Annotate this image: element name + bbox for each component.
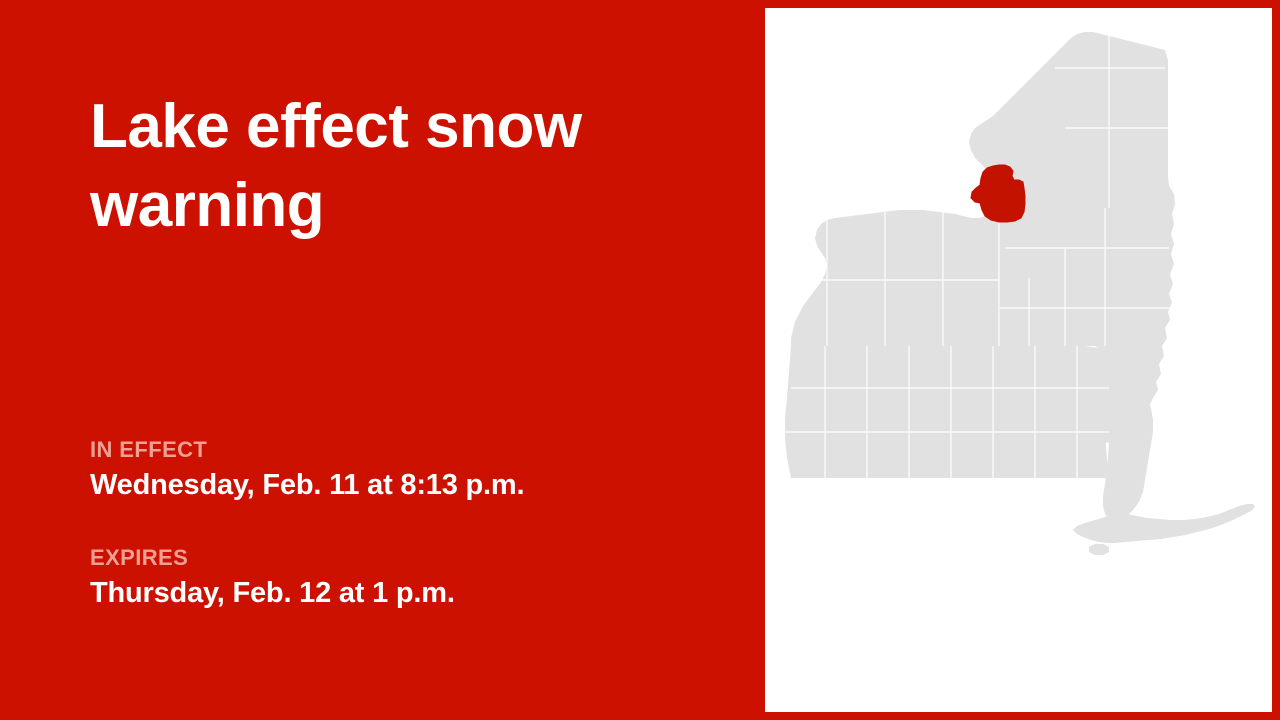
expires-value: Thursday, Feb. 12 at 1 p.m. [90,576,710,611]
in-effect-value: Wednesday, Feb. 11 at 8:13 p.m. [90,468,710,503]
new-york-state-map [765,8,1272,712]
long-island [1073,504,1255,543]
weather-alert-card: Lake effect snow warning IN EFFECT Wedne… [0,0,1280,720]
in-effect-label: IN EFFECT [90,436,710,464]
expires-label: EXPIRES [90,544,710,572]
western-new-york-block [785,346,1109,478]
expires-group: EXPIRES Thursday, Feb. 12 at 1 p.m. [90,544,710,610]
state-outline-group [785,32,1175,522]
staten-island [1089,544,1109,555]
alert-timing-block: IN EFFECT Wednesday, Feb. 11 at 8:13 p.m… [90,436,710,611]
alert-title: Lake effect snow warning [90,88,690,245]
alert-info-panel: Lake effect snow warning IN EFFECT Wedne… [0,0,765,720]
long-island-group [1073,504,1255,555]
in-effect-group: IN EFFECT Wednesday, Feb. 11 at 8:13 p.m… [90,436,710,502]
alert-map-panel [765,8,1272,712]
